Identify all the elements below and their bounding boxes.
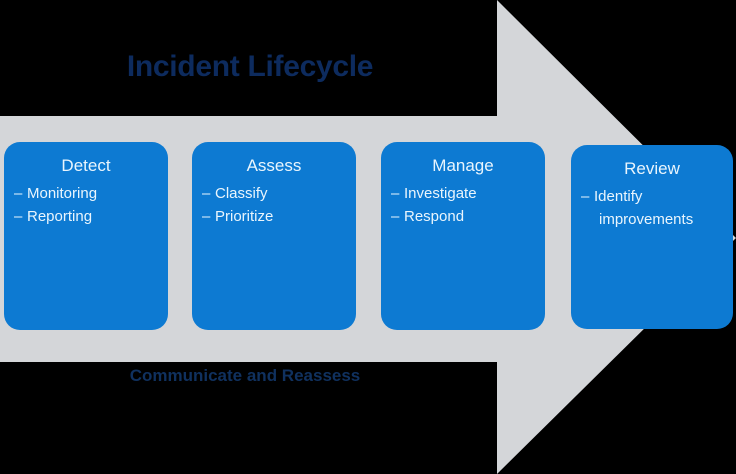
stage-bullet: –Respond bbox=[391, 205, 535, 228]
stage-bullet-list-review: –Identify improvements bbox=[581, 185, 723, 231]
stage-bullet: –Identify improvements bbox=[581, 185, 723, 231]
stage-title-review: Review bbox=[581, 157, 723, 181]
bullet-text: Classify bbox=[215, 185, 268, 202]
bullet-dash-icon: – bbox=[14, 182, 27, 205]
stage-card-detect[interactable]: Detect –Monitoring –Reporting bbox=[4, 142, 168, 330]
stage-bullet: –Monitoring bbox=[14, 182, 158, 205]
footer-caption: Communicate and Reassess bbox=[0, 364, 490, 388]
bullet-dash-icon: – bbox=[14, 205, 27, 228]
stage-card-review[interactable]: Review –Identify improvements bbox=[571, 145, 733, 329]
bullet-text: Identify improvements bbox=[594, 188, 693, 228]
bullet-dash-icon: – bbox=[581, 185, 594, 208]
stage-bullet: –Reporting bbox=[14, 205, 158, 228]
bullet-dash-icon: – bbox=[391, 182, 404, 205]
bullet-text: Prioritize bbox=[215, 208, 273, 225]
bullet-dash-icon: – bbox=[202, 205, 215, 228]
stage-title-manage: Manage bbox=[391, 154, 535, 178]
stage-bullet-list-detect: –Monitoring –Reporting bbox=[14, 182, 158, 228]
stage-card-manage[interactable]: Manage –Investigate –Respond bbox=[381, 142, 545, 330]
bullet-text: Reporting bbox=[27, 208, 92, 225]
stage-card-assess[interactable]: Assess –Classify –Prioritize bbox=[192, 142, 356, 330]
bullet-dash-icon: – bbox=[202, 182, 215, 205]
bullet-dash-icon: – bbox=[391, 205, 404, 228]
page-title: Incident Lifecycle bbox=[0, 48, 500, 86]
stage-bullet: –Prioritize bbox=[202, 205, 346, 228]
stage-bullet: –Investigate bbox=[391, 182, 535, 205]
diagram-canvas: Incident Lifecycle Detect –Monitoring –R… bbox=[0, 0, 736, 474]
stage-bullet-list-manage: –Investigate –Respond bbox=[391, 182, 535, 228]
stage-title-assess: Assess bbox=[202, 154, 346, 178]
stage-title-detect: Detect bbox=[14, 154, 158, 178]
stage-bullet-list-assess: –Classify –Prioritize bbox=[202, 182, 346, 228]
bullet-text: Respond bbox=[404, 208, 464, 225]
bullet-text: Monitoring bbox=[27, 185, 97, 202]
stage-bullet: –Classify bbox=[202, 182, 346, 205]
bullet-text: Investigate bbox=[404, 185, 477, 202]
